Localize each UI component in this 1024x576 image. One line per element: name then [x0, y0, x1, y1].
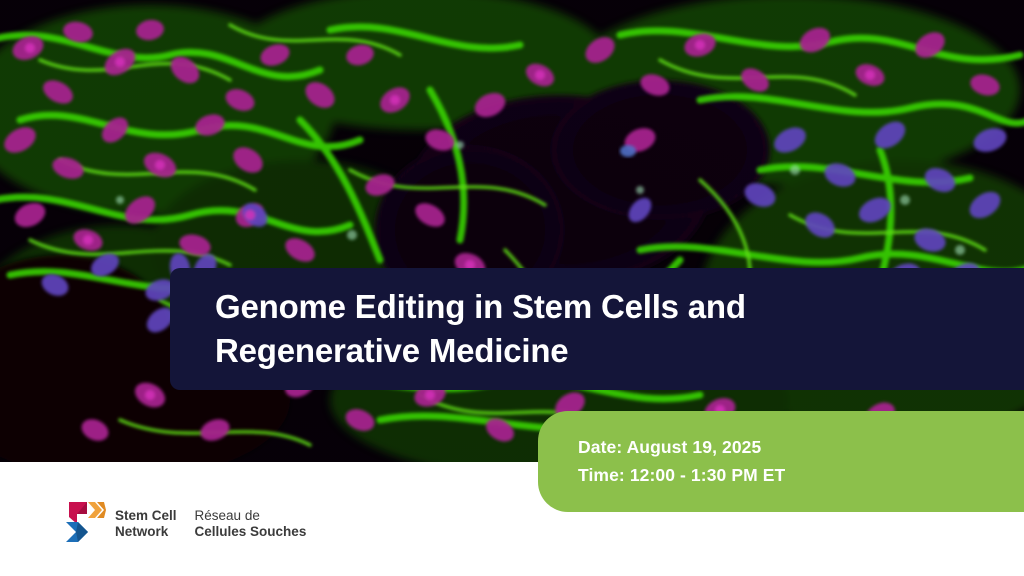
- logo-fr-line2: Cellules Souches: [195, 524, 307, 539]
- background-photo: [0, 0, 1024, 462]
- title-band: Genome Editing in Stem Cells and Regener…: [170, 268, 1024, 390]
- logo-french: Réseau de Cellules Souches: [195, 508, 307, 540]
- stem-cell-network-logo: Stem Cell Network Réseau de Cellules Sou…: [64, 500, 306, 544]
- logo-wordmark: Stem Cell Network Réseau de Cellules Sou…: [115, 504, 306, 540]
- logo-en-line2: Network: [115, 524, 168, 539]
- logo-english: Stem Cell Network: [115, 508, 177, 540]
- chevron-logo-icon: [64, 500, 106, 544]
- webinar-poster: Genome Editing in Stem Cells and Regener…: [0, 0, 1024, 576]
- title-line-2: Regenerative Medicine: [215, 329, 746, 373]
- date-band: Date: August 19, 2025 Time: 12:00 - 1:30…: [538, 411, 1024, 512]
- event-date: Date: August 19, 2025: [578, 434, 1024, 461]
- page-title: Genome Editing in Stem Cells and Regener…: [215, 285, 746, 373]
- title-line-1: Genome Editing in Stem Cells and: [215, 285, 746, 329]
- logo-fr-line1: Réseau de: [195, 508, 260, 523]
- event-time: Time: 12:00 - 1:30 PM ET: [578, 462, 1024, 489]
- logo-en-line1: Stem Cell: [115, 508, 177, 523]
